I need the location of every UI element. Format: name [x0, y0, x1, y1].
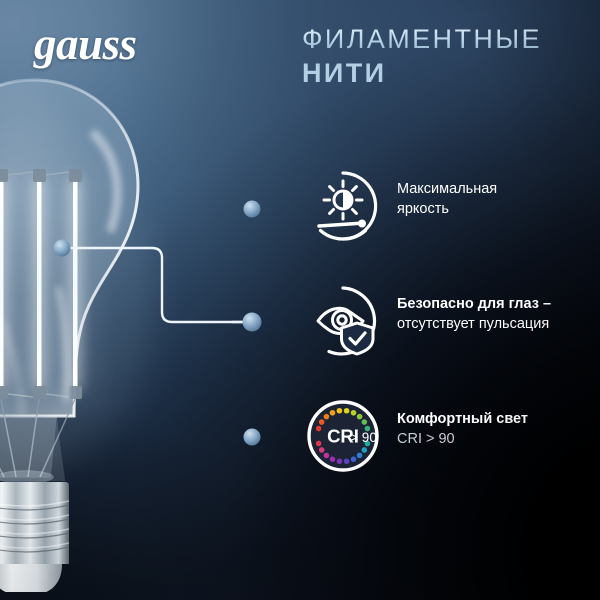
- poster-canvas: gauss ФИЛАМЕНТНЫЕ НИТИ: [0, 0, 600, 600]
- vignette-overlay: [0, 0, 600, 600]
